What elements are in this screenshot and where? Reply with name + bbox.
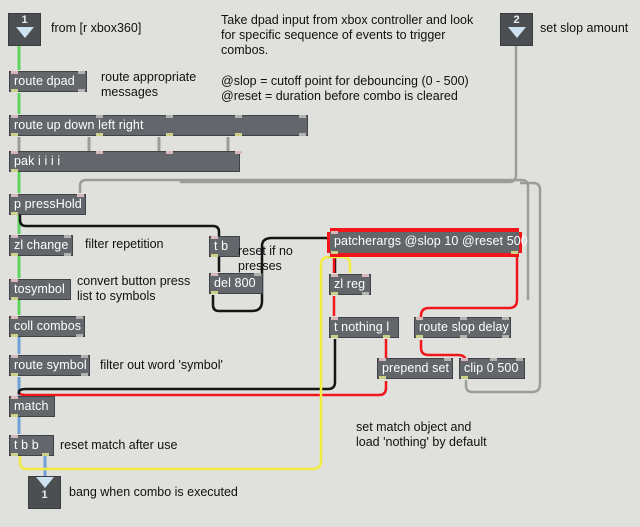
inlet-nub[interactable]: [444, 358, 451, 361]
outlet-nub[interactable]: [11, 334, 18, 337]
object-p-presshold[interactable]: p pressHold: [9, 194, 86, 215]
outlet-nub[interactable]: [11, 253, 18, 256]
outlet-nub[interactable]: [64, 253, 71, 256]
outlet-nub[interactable]: [511, 251, 518, 254]
object-text: route symbol: [14, 358, 87, 372]
comment-filter-out-symbol: filter out word 'symbol': [100, 358, 223, 373]
outlet-nub[interactable]: [379, 376, 386, 379]
inlet-nub[interactable]: [96, 151, 103, 154]
inlet-nub[interactable]: [11, 194, 18, 197]
inlet-nub[interactable]: [379, 358, 386, 361]
inlet-nub[interactable]: [76, 316, 83, 319]
comment-filter-repetition: filter repetition: [85, 237, 164, 252]
comment-convert-button-press: convert button press list to symbols: [77, 274, 190, 304]
inlet-nub[interactable]: [331, 231, 338, 234]
object-text: route up down left right: [14, 118, 144, 132]
object-clip-0-500[interactable]: clip 0 500: [459, 358, 525, 379]
outlet-nub[interactable]: [78, 89, 85, 92]
comment-args-doc: @slop = cutoff point for debouncing (0 -…: [221, 74, 469, 104]
inlet-nub[interactable]: [299, 115, 306, 118]
comment-set-match-object: set match object and load 'nothing' by d…: [356, 420, 487, 450]
outlet-nub[interactable]: [211, 291, 218, 294]
inlet-nub[interactable]: [502, 317, 509, 320]
max-patcher-canvas[interactable]: 1 2 1 route dpad route up down left righ…: [0, 0, 640, 527]
inlet-nub[interactable]: [11, 151, 18, 154]
object-match[interactable]: match: [9, 396, 55, 417]
outlet-nub[interactable]: [331, 292, 338, 295]
outlet-nub[interactable]: [502, 335, 509, 338]
inlet-nub[interactable]: [11, 235, 18, 238]
object-text: zl change: [14, 238, 68, 252]
inlet-triangle-icon: [16, 27, 34, 38]
object-pak[interactable]: pak i i i i: [9, 151, 240, 172]
comment-bang-when-combo: bang when combo is executed: [69, 485, 238, 500]
outlet-nub[interactable]: [460, 335, 467, 338]
outlet-nub[interactable]: [11, 89, 18, 92]
outlet-nub[interactable]: [383, 335, 390, 338]
cord-patcherargs-to-routeslop: [421, 253, 517, 318]
object-route-symbol[interactable]: route symbol: [9, 355, 90, 376]
outlet-nub[interactable]: [11, 297, 18, 300]
object-text: clip 0 500: [464, 361, 519, 375]
inlet-nub[interactable]: [460, 317, 467, 320]
object-text: t b b: [14, 438, 39, 452]
outlet-nub[interactable]: [166, 133, 173, 136]
inlet-nub[interactable]: [461, 358, 468, 361]
outlet-nub[interactable]: [416, 335, 423, 338]
inlet-nub[interactable]: [78, 71, 85, 74]
inlet-nub[interactable]: [81, 355, 88, 358]
outlet-nub[interactable]: [11, 169, 18, 172]
object-tosymbol[interactable]: tosymbol: [9, 279, 71, 300]
inlet-nub[interactable]: [11, 279, 18, 282]
object-route-dpad[interactable]: route dpad: [9, 71, 87, 92]
object-text: prepend set: [382, 361, 449, 375]
inlet-nub[interactable]: [166, 151, 173, 154]
object-text: del 800: [214, 276, 256, 290]
object-zl-change[interactable]: zl change: [9, 235, 73, 256]
inlet-nub[interactable]: [166, 115, 173, 118]
inlet-nub[interactable]: [235, 115, 242, 118]
inlet-nub[interactable]: [235, 151, 242, 154]
outlet-nub[interactable]: [11, 212, 18, 215]
outlet-nub[interactable]: [96, 133, 103, 136]
outlet-nub[interactable]: [299, 133, 306, 136]
outlet-triangle-icon: [36, 477, 54, 488]
inlet-2-number: 2: [501, 14, 532, 27]
object-text: pak i i i i: [14, 154, 60, 168]
outlet-nub[interactable]: [81, 373, 88, 376]
comment-reset-if-no-presses: reset if no presses: [238, 244, 293, 274]
object-t-b-b[interactable]: t b b: [9, 435, 54, 456]
object-route-up-down-left-right[interactable]: route up down left right: [9, 115, 308, 136]
comment-set-slop-amount: set slop amount: [540, 21, 628, 36]
inlet-nub[interactable]: [77, 194, 84, 197]
inlet-nub[interactable]: [11, 435, 18, 438]
outlet-nub[interactable]: [11, 453, 18, 456]
inlet-nub[interactable]: [416, 317, 423, 320]
inlet-triangle-icon: [508, 27, 526, 38]
outlet-nub[interactable]: [235, 133, 242, 136]
outlet-1-number: 1: [29, 488, 60, 502]
inlet-nub[interactable]: [362, 274, 369, 277]
outlet-nub[interactable]: [42, 453, 49, 456]
outlet-nub[interactable]: [362, 292, 369, 295]
object-text: t nothing l: [334, 320, 389, 334]
outlet-nub[interactable]: [76, 334, 83, 337]
object-text: route dpad: [14, 74, 75, 88]
inlet-nub[interactable]: [331, 317, 338, 320]
outlet-nub[interactable]: [11, 133, 18, 136]
object-text: zl reg: [334, 277, 365, 291]
outlet-1[interactable]: 1: [28, 476, 61, 509]
inlet-nub[interactable]: [331, 274, 338, 277]
inlet-nub[interactable]: [211, 273, 218, 276]
object-prepend-set[interactable]: prepend set: [377, 358, 453, 379]
object-t-nothing-l[interactable]: t nothing l: [329, 317, 399, 338]
object-text: match: [14, 399, 49, 413]
inlet-nub[interactable]: [11, 115, 18, 118]
outlet-nub[interactable]: [11, 373, 18, 376]
outlet-nub[interactable]: [11, 414, 18, 417]
object-text: coll combos: [14, 319, 81, 333]
outlet-nub[interactable]: [331, 335, 338, 338]
inlet-1-number: 1: [9, 14, 40, 27]
inlet-nub[interactable]: [96, 115, 103, 118]
cord-prepend-to-match: [19, 381, 386, 395]
inlet-nub[interactable]: [64, 235, 71, 238]
outlet-nub[interactable]: [461, 376, 468, 379]
inlet-nub[interactable]: [490, 358, 497, 361]
comment-route-appropriate: route appropriate messages: [101, 70, 196, 100]
object-del-800[interactable]: del 800: [209, 273, 263, 294]
object-zl-reg[interactable]: zl reg: [329, 274, 371, 295]
object-text: tosymbol: [14, 282, 65, 296]
inlet-nub[interactable]: [211, 236, 218, 239]
object-coll-combos[interactable]: coll combos: [9, 316, 85, 337]
outlet-nub[interactable]: [331, 251, 338, 254]
object-patcherargs[interactable]: patcherargs @slop 10 @reset 500: [330, 232, 519, 253]
cord-presshold-to-tb: [20, 215, 219, 236]
object-text: t b: [214, 239, 228, 253]
outlet-nub[interactable]: [211, 254, 218, 257]
inlet-1[interactable]: 1: [8, 13, 41, 46]
object-text: route slop delay: [419, 320, 509, 334]
object-text: patcherargs @slop 10 @reset 500: [334, 234, 528, 248]
object-route-slop-delay[interactable]: route slop delay: [414, 317, 511, 338]
inlet-2[interactable]: 2: [500, 13, 533, 46]
comment-overview: Take dpad input from xbox controller and…: [221, 13, 473, 58]
inlet-nub[interactable]: [516, 358, 523, 361]
comment-from-r-xbox360: from [r xbox360]: [51, 21, 141, 36]
object-t-b[interactable]: t b: [209, 236, 240, 257]
object-text: p pressHold: [14, 197, 82, 211]
inlet-nub[interactable]: [11, 316, 18, 319]
comment-reset-match-after-use: reset match after use: [60, 438, 177, 453]
inlet-nub[interactable]: [11, 355, 18, 358]
inlet-nub[interactable]: [11, 71, 18, 74]
inlet-nub[interactable]: [11, 396, 18, 399]
